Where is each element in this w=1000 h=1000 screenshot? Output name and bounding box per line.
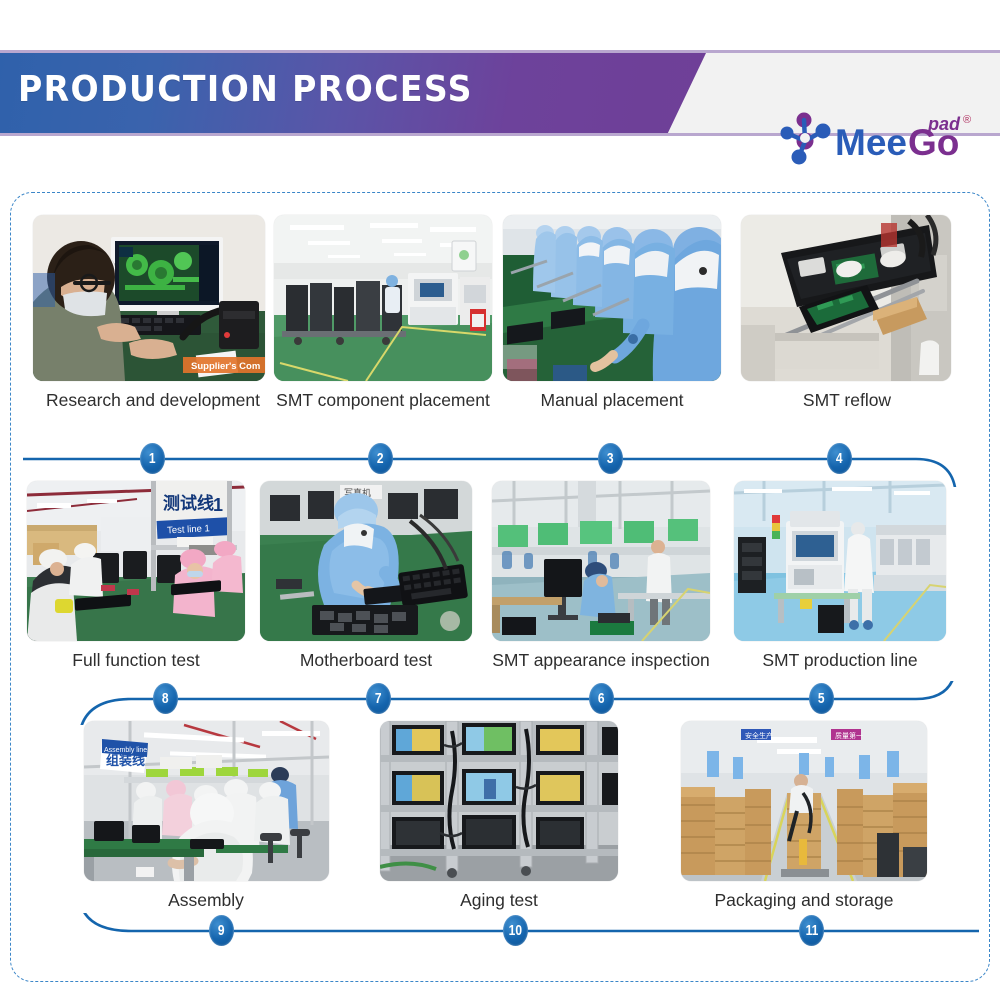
- logo-text-mee: Mee: [835, 122, 907, 163]
- step-label-11: Packaging and storage: [659, 890, 949, 911]
- step-label-4: SMT reflow: [727, 390, 967, 411]
- molecule-icon: [781, 113, 831, 165]
- process-step-8[interactable]: 测试线 1 Test line 1: [21, 481, 251, 671]
- svg-text:组装线: 组装线: [106, 753, 145, 769]
- svg-text:Supplier's Com: Supplier's Com: [191, 361, 260, 372]
- step-image-smt-appearance-inspection: [492, 481, 710, 641]
- step-image-aging-test: [380, 721, 618, 881]
- logo-text-pad: pad: [927, 114, 961, 134]
- step-badge-4[interactable]: 4: [827, 443, 852, 474]
- process-row-1: Supplier's Com Research and development: [11, 215, 991, 435]
- process-step-5[interactable]: SMT production line: [725, 481, 955, 671]
- step-label-5: SMT production line: [725, 650, 955, 671]
- process-step-1[interactable]: Supplier's Com Research and development: [33, 215, 273, 411]
- badge-number: 7: [375, 691, 382, 706]
- step-label-2: SMT component placement: [263, 390, 503, 411]
- logo-registered-mark: ®: [963, 114, 971, 126]
- step-badge-2[interactable]: 2: [368, 443, 393, 474]
- step-image-research-and-development: Supplier's Com: [33, 215, 265, 381]
- badge-number: 9: [218, 923, 225, 938]
- badge-number: 10: [509, 923, 522, 938]
- process-step-3[interactable]: Manual placement: [497, 215, 727, 411]
- process-flow-card: Supplier's Com Research and development: [10, 192, 990, 982]
- svg-text:Test line 1: Test line 1: [167, 523, 210, 536]
- process-step-11[interactable]: 安全生产 质量第一: [659, 721, 949, 911]
- badge-number: 2: [377, 451, 384, 466]
- process-step-2[interactable]: SMT component placement: [263, 215, 503, 411]
- badge-number: 1: [149, 451, 156, 466]
- process-step-9[interactable]: 组装线 Assembly line: [71, 721, 341, 911]
- badge-number: 3: [607, 451, 614, 466]
- step-label-3: Manual placement: [497, 390, 727, 411]
- step-image-assembly: 组装线 Assembly line: [84, 721, 329, 881]
- step-image-smt-component-placement: [274, 215, 492, 381]
- badge-number: 4: [836, 451, 843, 466]
- step-label-1: Research and development: [33, 390, 273, 411]
- process-row-3: 组装线 Assembly line: [11, 721, 991, 921]
- step-image-full-function-test: 测试线 1 Test line 1: [27, 481, 245, 641]
- step-label-7: Motherboard test: [251, 650, 481, 671]
- step-badge-3[interactable]: 3: [598, 443, 623, 474]
- process-step-4[interactable]: SMT reflow: [727, 215, 967, 411]
- step-label-8: Full function test: [21, 650, 251, 671]
- meegopad-logo: Mee Go pad ®: [778, 108, 978, 170]
- step-badge-1[interactable]: 1: [140, 443, 165, 474]
- step-image-smt-reflow: [741, 215, 951, 381]
- step-image-smt-production-line: [734, 481, 946, 641]
- badge-number: 11: [805, 923, 818, 938]
- step-image-manual-placement: [503, 215, 721, 381]
- step-label-10: Aging test: [369, 890, 629, 911]
- page-title: PRODUCTION PROCESS: [18, 69, 473, 110]
- step-image-packaging-and-storage: 安全生产 质量第一: [681, 721, 927, 881]
- svg-text:测试线: 测试线: [163, 493, 214, 514]
- badge-number: 8: [162, 691, 169, 706]
- step-label-9: Assembly: [71, 890, 341, 911]
- badge-number: 5: [818, 691, 825, 706]
- page-header: PRODUCTION PROCESS Mee Go pad ®: [0, 50, 1000, 136]
- svg-text:安全生产: 安全生产: [745, 731, 773, 740]
- svg-text:1: 1: [213, 495, 223, 515]
- process-step-10[interactable]: Aging test: [369, 721, 629, 911]
- step-image-motherboard-test: 写真机: [260, 481, 472, 641]
- step-label-6: SMT appearance inspection: [477, 650, 725, 671]
- process-row-2: 测试线 1 Test line 1: [11, 481, 991, 691]
- process-step-7[interactable]: 写真机: [251, 481, 481, 671]
- process-step-6[interactable]: SMT appearance inspection: [477, 481, 725, 671]
- badge-number: 6: [598, 691, 605, 706]
- svg-text:Assembly line: Assembly line: [104, 747, 147, 754]
- svg-text:质量第一: 质量第一: [835, 731, 863, 740]
